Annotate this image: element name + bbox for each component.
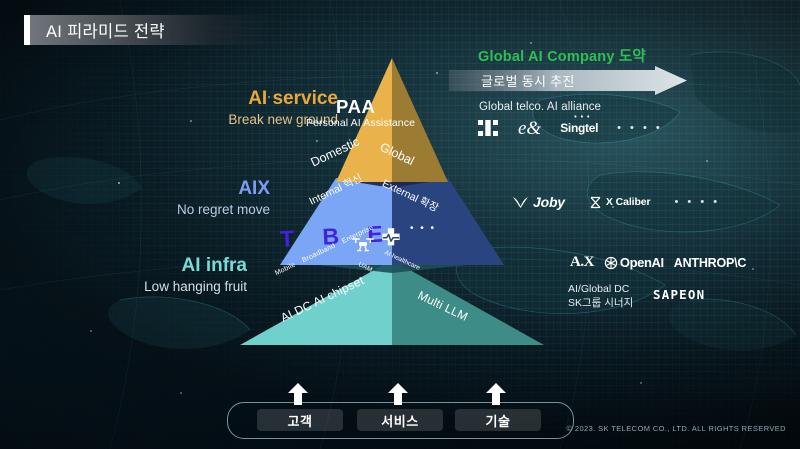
sk-synergy-line-2: SK그룹 시너지 [568,296,633,310]
xcaliber-wordmark: X Caliber [606,196,651,208]
slide-title-bar: AI 피라미드 전략 [24,15,274,45]
joby-logo: Joby [512,194,565,210]
global-headline: Global AI Company 도약 [478,45,646,66]
arrow-label: 글로벌 동시 추진 [481,71,575,90]
anthropic-logo: ANTHROP\C [674,256,747,270]
title-accent-bar [24,15,30,45]
xcaliber-glyph-icon [589,196,602,209]
alliance-title: Global telco. AI alliance [479,101,601,113]
singtel-sparkle-icon: • • • [574,114,590,121]
openai-knot-icon [604,256,618,270]
ai-healthcare-icon [380,227,402,249]
telco-more-dots: • • • • [617,122,663,134]
joby-wing-icon [512,195,529,209]
telco-logo-row: e& • • • Singtel • • • • [477,118,663,138]
partner-logo-row: Joby X Caliber • • • • [512,194,720,210]
xcaliber-logo: X Caliber [589,196,651,209]
t-mobile-glyph [477,118,499,138]
sapeon-logo: SAPEON [653,286,705,304]
copyright-notice: © 2023. SK TELECOM CO., LTD. ALL RIGHTS … [566,424,786,433]
openai-wordmark: OpenAI [620,255,664,270]
up-arrow-technology-icon [485,383,507,405]
up-arrow-service-icon [387,383,409,405]
foundation-pill-service[interactable]: 서비스 [357,409,443,431]
sapeon-wordmark: SAPEON [653,287,705,302]
pyramid-middle-right-face [392,178,504,265]
pyramid-top-right-face [392,58,448,182]
joby-wordmark: Joby [533,194,565,210]
page-title: AI 피라미드 전략 [46,18,165,42]
up-arrow-customer-icon [287,383,309,405]
ax-logo: A.X [570,254,594,271]
singtel-wordmark: Singtel [560,121,598,135]
openai-logo: OpenAI [604,255,664,270]
foundation-pill-technology[interactable]: 기술 [455,409,541,431]
sk-synergy-line-1: AI/Global DC [568,282,633,296]
pyramid-top-left-face [336,58,392,182]
partner-more-dots: • • • • [675,196,721,208]
ai-model-logo-row: A.X OpenAI ANTHROP\C [570,254,746,271]
slide-canvas: AI 피라미드 전략 AI service Break new ground A… [0,0,800,449]
sk-synergy-note: AI/Global DC SK그룹 시너지 [568,282,633,310]
singtel-logo: • • • Singtel [560,121,598,135]
etisalat-and-logo: e& [518,119,541,138]
pyramid-bottom-right-face [392,260,544,345]
drone-icon [350,233,376,255]
t-mobile-logo [477,118,499,138]
pyramid-bottom-left-face [240,260,392,345]
foundation-pill-customer[interactable]: 고객 [257,409,343,431]
